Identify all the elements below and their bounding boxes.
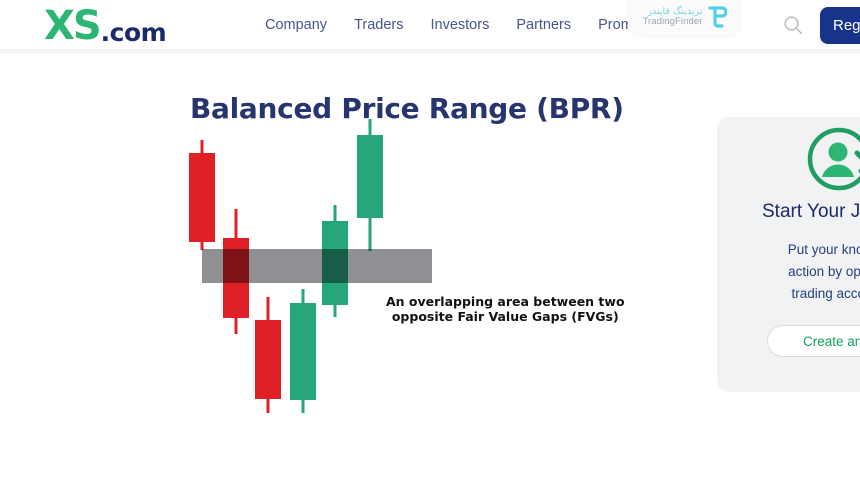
logo-suffix-text: .com [101,20,167,45]
card-title: Start Your J [762,201,860,223]
site-logo[interactable]: XS .com [44,6,166,46]
balanced-price-range-band [202,249,432,283]
create-account-button[interactable]: Create an Ac [767,325,860,357]
card-description: Put your knowl action by open trading ac… [737,239,860,305]
candle-1-bearish [189,140,215,250]
nav-item-partners[interactable]: Partners [516,17,571,33]
register-button[interactable]: Register [820,7,860,44]
nav-item-traders[interactable]: Traders [354,17,403,33]
candle-4-bullish [290,289,316,413]
nav-item-investors[interactable]: Investors [430,17,489,33]
page-content: Balanced Price Range (BPR) An overlappin… [0,57,860,484]
tradingfinder-watermark: تریدینگ فایندر TradingFinder [628,0,741,36]
search-button[interactable] [782,14,804,36]
candle-3-bearish [255,297,281,413]
watermark-text-group: تریدینگ فایندر TradingFinder [642,7,702,27]
watermark-english-text: TradingFinder [642,17,702,27]
main-navigation: Company Traders Investors Partners Promo… [265,17,671,33]
start-journey-card: Start Your J Put your knowl action by op… [717,117,860,392]
candle-body [255,320,281,399]
candle-6-bullish [357,119,383,251]
chart-annotation-label: An overlapping area between two opposite… [386,294,625,325]
candle-body [290,303,316,400]
candle-body [357,135,383,218]
nav-item-company[interactable]: Company [265,17,327,33]
candlestick-chart: An overlapping area between two opposite… [0,57,715,484]
search-icon [782,14,804,36]
candle-body [189,153,215,242]
tradingfinder-logo-icon [707,6,727,28]
logo-brand-text: XS [44,6,100,46]
add-user-icon [805,125,860,199]
site-header: XS .com Company Traders Investors Partne… [0,0,860,53]
